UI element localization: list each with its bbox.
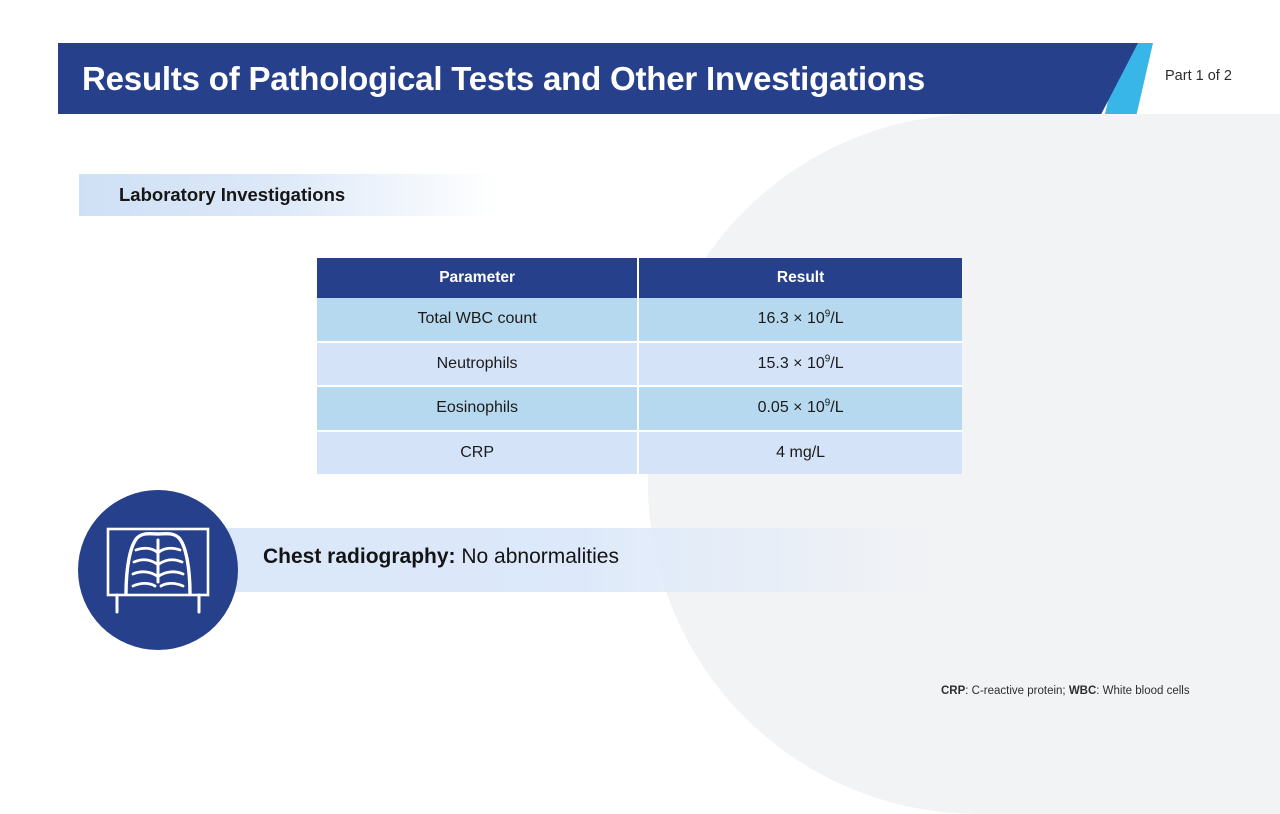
- footnote-abbr-wbc: WBC: [1069, 685, 1096, 697]
- slide-header: Results of Pathological Tests and Other …: [0, 43, 1280, 114]
- header-bar: Results of Pathological Tests and Other …: [58, 43, 1138, 114]
- cell-result: 15.3 × 109/L: [639, 343, 962, 388]
- column-header-parameter: Parameter: [317, 258, 639, 298]
- page-title: Results of Pathological Tests and Other …: [82, 60, 925, 98]
- table-row: CRP 4 mg/L: [317, 432, 962, 475]
- cell-result: 4 mg/L: [639, 432, 962, 475]
- cell-result: 16.3 × 109/L: [639, 298, 962, 343]
- section-heading-band: Laboratory Investigations: [79, 174, 499, 216]
- section-title: Laboratory Investigations: [119, 184, 345, 206]
- column-header-result: Result: [639, 258, 962, 298]
- lab-results-table: Parameter Result Total WBC count 16.3 × …: [317, 258, 962, 474]
- table-row: Neutrophils 15.3 × 109/L: [317, 343, 962, 388]
- cell-result: 0.05 × 109/L: [639, 387, 962, 432]
- radiography-value: No abnormalities: [461, 545, 619, 568]
- chest-xray-badge: [78, 490, 238, 650]
- abbreviations-footnote: CRP: C-reactive protein; WBC: White bloo…: [941, 685, 1190, 697]
- footnote-abbr-crp: CRP: [941, 685, 965, 697]
- table-header-row: Parameter Result: [317, 258, 962, 298]
- cell-parameter: CRP: [317, 432, 639, 475]
- radiography-label: Chest radiography:: [263, 545, 456, 568]
- table-row: Eosinophils 0.05 × 109/L: [317, 387, 962, 432]
- cell-parameter: Total WBC count: [317, 298, 639, 343]
- radiography-result: Chest radiography: No abnormalities: [263, 545, 619, 569]
- footnote-text-wbc: : White blood cells: [1096, 685, 1189, 697]
- cell-parameter: Eosinophils: [317, 387, 639, 432]
- chest-xray-icon: [103, 524, 213, 616]
- table-row: Total WBC count 16.3 × 109/L: [317, 298, 962, 343]
- footnote-text-crp: : C-reactive protein;: [965, 685, 1069, 697]
- cell-parameter: Neutrophils: [317, 343, 639, 388]
